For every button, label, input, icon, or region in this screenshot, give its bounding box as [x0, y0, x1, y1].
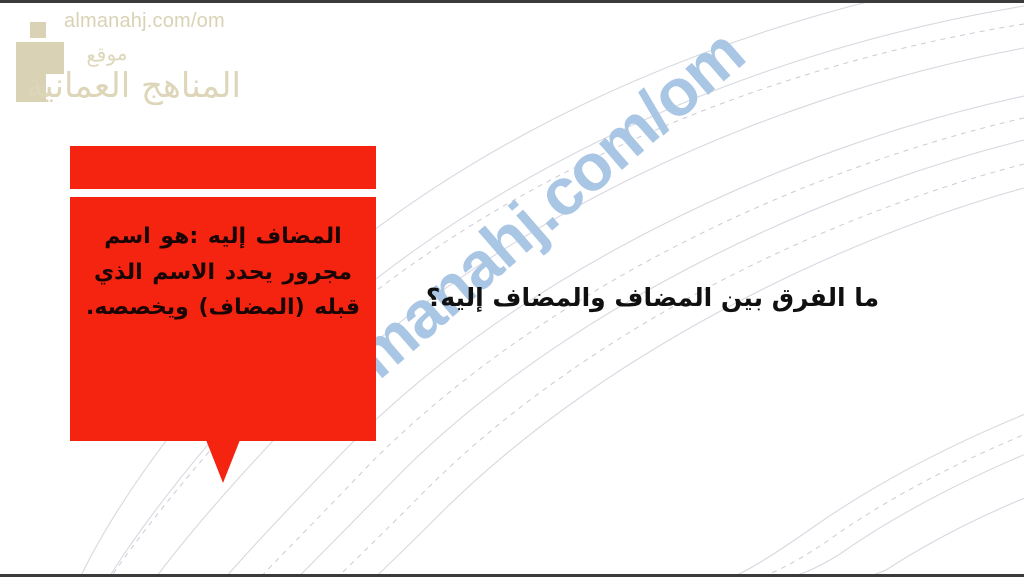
question-text: ما الفرق بين المضاف والمضاف إليه؟ — [420, 281, 885, 315]
brand-block: almanahj.com/om موقع المناهج العمانية — [16, 4, 276, 124]
callout-body: المضاف إليه :هو اسم مجرور يحدد الاسم الذ… — [70, 197, 376, 441]
frame-edge-top — [0, 0, 1024, 3]
callout-top-bar — [70, 146, 376, 189]
callout-text: المضاف إليه :هو اسم مجرور يحدد الاسم الذ… — [84, 219, 362, 326]
brand-arabic-title: المناهج العمانية — [26, 66, 241, 106]
slide-canvas: almanahj.com/om موقع المناهج العمانية al… — [0, 0, 1024, 577]
brand-arabic-small: موقع — [85, 41, 128, 68]
callout-tail-icon — [206, 440, 240, 483]
brand-url-text: almanahj.com/om — [64, 10, 225, 33]
definition-callout: المضاف إليه :هو اسم مجرور يحدد الاسم الذ… — [70, 146, 376, 435]
